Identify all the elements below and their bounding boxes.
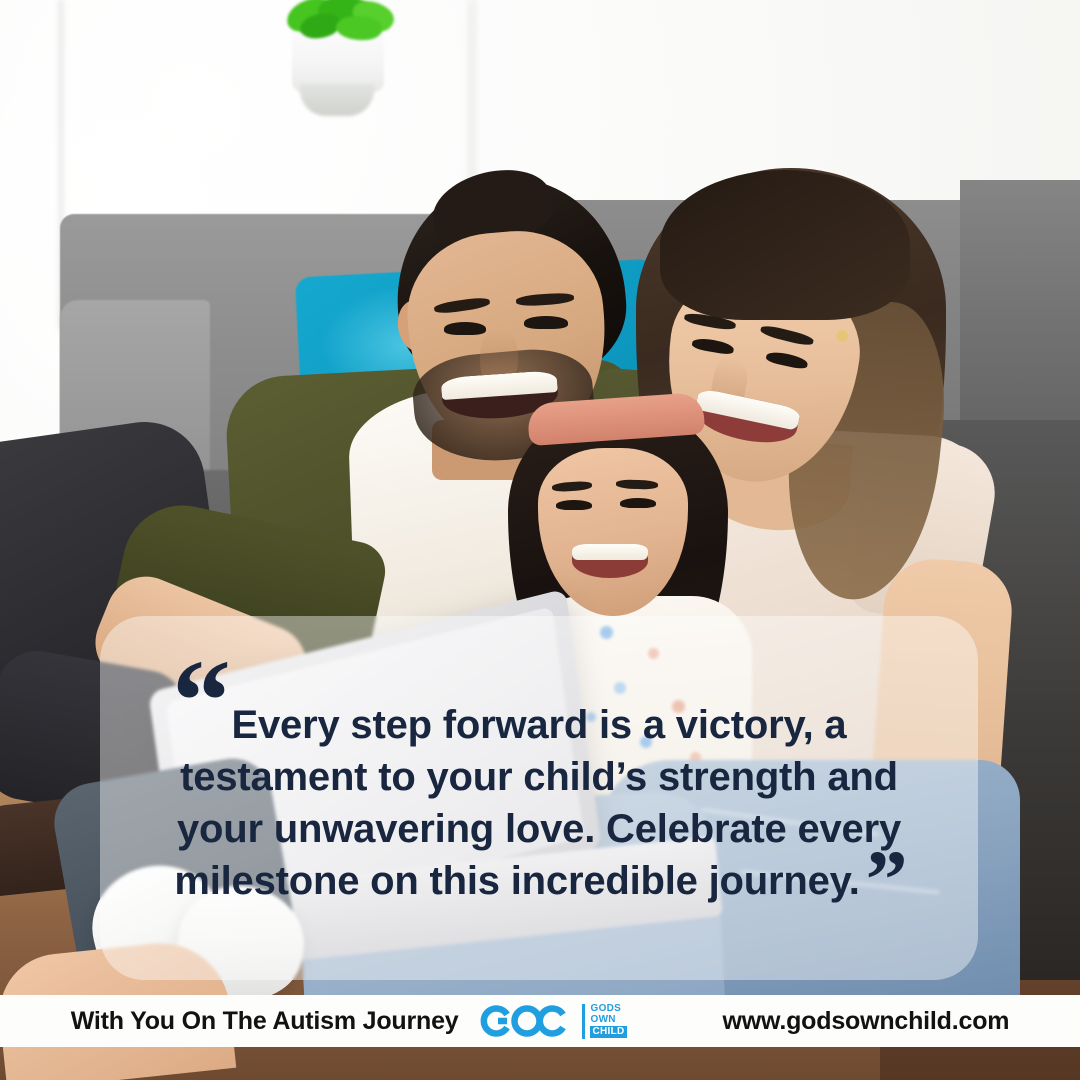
- logo-line-child: CHILD: [590, 1026, 626, 1038]
- father-eye: [524, 316, 568, 329]
- footer-bar: With You On The Autism Journey GODS OWN …: [0, 995, 1080, 1047]
- goc-wordmark: GODS OWN CHILD: [582, 1004, 626, 1039]
- child-teeth: [572, 544, 648, 560]
- child-eye: [620, 498, 656, 508]
- hanging-planter-base: [300, 84, 374, 116]
- father-eye: [444, 322, 486, 335]
- website-url[interactable]: www.godsownchild.com: [723, 1007, 1010, 1036]
- social-post-canvas: Every step forward is a victory, a testa…: [0, 0, 1080, 1080]
- child-smile: [572, 544, 648, 578]
- goc-monogram-icon: [480, 1004, 576, 1038]
- quote-text: Every step forward is a victory, a testa…: [100, 699, 978, 907]
- goc-logo[interactable]: GODS OWN CHILD: [480, 1004, 626, 1039]
- logo-line-own: OWN: [590, 1015, 626, 1025]
- quote-card-inner: Every step forward is a victory, a testa…: [100, 616, 978, 980]
- quote-card: Every step forward is a victory, a testa…: [100, 616, 978, 980]
- child-eye: [556, 500, 592, 510]
- logo-line-gods: GODS: [590, 1004, 626, 1014]
- mother-earring: [836, 330, 848, 342]
- opening-quote-icon: “: [172, 642, 225, 760]
- tagline: With You On The Autism Journey: [71, 1007, 459, 1036]
- quote-body: Every step forward is a victory, a testa…: [174, 703, 901, 903]
- mother-hair-top: [660, 170, 910, 320]
